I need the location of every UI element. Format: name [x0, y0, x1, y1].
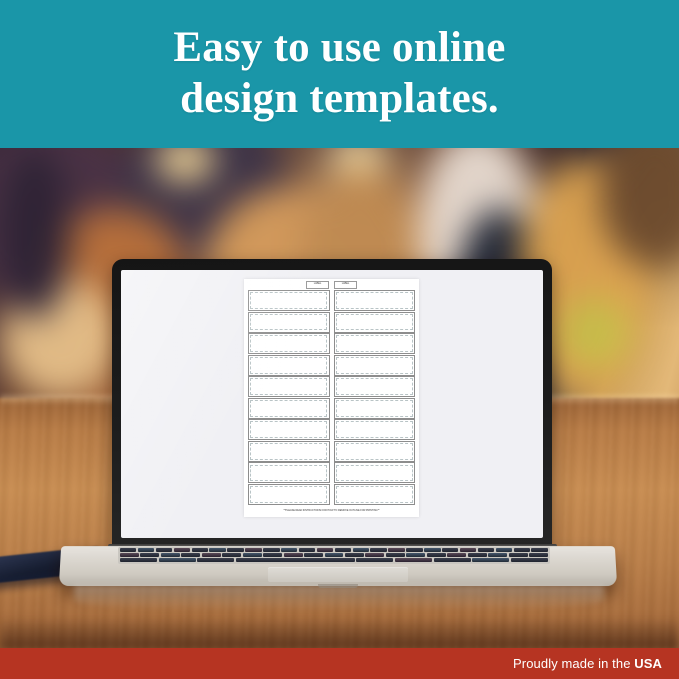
keyboard-key[interactable]	[159, 558, 196, 562]
keyboard-key[interactable]	[304, 553, 323, 557]
label-grid	[244, 290, 419, 505]
keyboard-key[interactable]	[263, 553, 282, 557]
keyboard-row	[118, 558, 550, 562]
label-cell[interactable]	[334, 290, 416, 311]
keyboard-key[interactable]	[345, 553, 364, 557]
label-cell[interactable]	[334, 376, 416, 397]
footer-bar: Proudly made in the USA	[0, 648, 679, 679]
label-cell[interactable]	[334, 333, 416, 354]
label-cell[interactable]	[248, 419, 330, 440]
keyboard-key[interactable]	[197, 558, 234, 562]
keyboard-key[interactable]	[424, 548, 440, 552]
keyboard-key[interactable]	[406, 553, 425, 557]
keyboard-key[interactable]	[138, 548, 154, 552]
keyboard-key[interactable]	[156, 548, 172, 552]
label-cell[interactable]	[248, 290, 330, 311]
keyboard-key[interactable]	[395, 558, 432, 562]
laptop-trackpad[interactable]	[268, 567, 408, 582]
label-cell[interactable]	[248, 398, 330, 419]
document-tab-1[interactable]: LABEL	[306, 281, 329, 289]
keyboard-key[interactable]	[353, 548, 369, 552]
keyboard-key[interactable]	[181, 553, 200, 557]
keyboard-key[interactable]	[434, 558, 471, 562]
keyboard-key[interactable]	[120, 548, 136, 552]
keyboard-key[interactable]	[529, 553, 548, 557]
keyboard-key[interactable]	[243, 553, 262, 557]
keyboard-key[interactable]	[468, 553, 487, 557]
label-cell[interactable]	[248, 312, 330, 333]
keyboard-key[interactable]	[386, 553, 405, 557]
keyboard-key[interactable]	[488, 553, 507, 557]
label-cell[interactable]	[248, 376, 330, 397]
keyboard-key[interactable]	[509, 553, 528, 557]
laptop: LABEL LABEL	[0, 148, 679, 648]
keyboard-key[interactable]	[325, 553, 344, 557]
keyboard-key[interactable]	[514, 548, 530, 552]
label-cell[interactable]	[248, 355, 330, 376]
made-in-usa-label: Proudly made in the USA	[513, 656, 679, 671]
keyboard-key[interactable]	[460, 548, 476, 552]
keyboard-row	[118, 553, 550, 557]
label-cell[interactable]	[334, 484, 416, 505]
headline-line-1: Easy to use online	[173, 23, 505, 74]
keyboard-key[interactable]	[370, 548, 386, 552]
laptop-keyboard[interactable]	[118, 547, 550, 564]
document-footnote: **PLEASE READ INSTRUCTIONS FOR HOW TO RE…	[244, 505, 419, 517]
keyboard-key[interactable]	[263, 548, 279, 552]
keyboard-key[interactable]	[427, 553, 446, 557]
keyboard-key[interactable]	[511, 558, 548, 562]
keyboard-key[interactable]	[284, 553, 303, 557]
keyboard-key[interactable]	[192, 548, 208, 552]
keyboard-key[interactable]	[531, 548, 547, 552]
page-title: Easy to use online design templates.	[173, 23, 505, 124]
keyboard-key[interactable]	[161, 553, 180, 557]
keyboard-key[interactable]	[335, 548, 351, 552]
spacebar-key[interactable]	[236, 558, 355, 562]
table-foreground-shadow	[0, 616, 679, 648]
footer-text-emphasis: USA	[634, 656, 662, 671]
keyboard-key[interactable]	[356, 558, 393, 562]
laptop-screen[interactable]: LABEL LABEL	[121, 270, 543, 538]
laptop-reflection	[74, 585, 604, 611]
keyboard-row	[118, 548, 550, 552]
label-cell[interactable]	[248, 462, 330, 483]
keyboard-key[interactable]	[406, 548, 422, 552]
keyboard-key[interactable]	[442, 548, 458, 552]
keyboard-key[interactable]	[245, 548, 261, 552]
label-cell[interactable]	[334, 398, 416, 419]
keyboard-key[interactable]	[209, 548, 225, 552]
keyboard-key[interactable]	[478, 548, 494, 552]
keyboard-key[interactable]	[174, 548, 190, 552]
keyboard-key[interactable]	[281, 548, 297, 552]
label-template-document[interactable]: LABEL LABEL	[244, 279, 419, 517]
label-cell[interactable]	[248, 484, 330, 505]
keyboard-key[interactable]	[120, 558, 157, 562]
keyboard-key[interactable]	[140, 553, 159, 557]
label-cell[interactable]	[334, 419, 416, 440]
lifestyle-photo: LABEL LABEL	[0, 148, 679, 648]
label-cell[interactable]	[248, 441, 330, 462]
document-tab-row: LABEL LABEL	[244, 279, 419, 290]
keyboard-key[interactable]	[227, 548, 243, 552]
keyboard-key[interactable]	[120, 553, 139, 557]
keyboard-key[interactable]	[317, 548, 333, 552]
footer-text-prefix: Proudly made in the	[513, 656, 634, 671]
keyboard-key[interactable]	[202, 553, 221, 557]
keyboard-key[interactable]	[365, 553, 384, 557]
laptop-lid: LABEL LABEL	[112, 259, 552, 549]
document-tab-2[interactable]: LABEL	[334, 281, 357, 289]
header-banner: Easy to use online design templates.	[0, 0, 679, 148]
keyboard-key[interactable]	[299, 548, 315, 552]
keyboard-key[interactable]	[222, 553, 241, 557]
label-cell[interactable]	[248, 333, 330, 354]
label-cell[interactable]	[334, 355, 416, 376]
product-lifestyle-banner: LABEL LABEL	[0, 0, 679, 679]
headline-line-2: design templates.	[173, 74, 505, 125]
keyboard-key[interactable]	[496, 548, 512, 552]
label-cell[interactable]	[334, 462, 416, 483]
keyboard-key[interactable]	[447, 553, 466, 557]
keyboard-key[interactable]	[472, 558, 509, 562]
label-cell[interactable]	[334, 312, 416, 333]
keyboard-key[interactable]	[388, 548, 404, 552]
label-cell[interactable]	[334, 441, 416, 462]
